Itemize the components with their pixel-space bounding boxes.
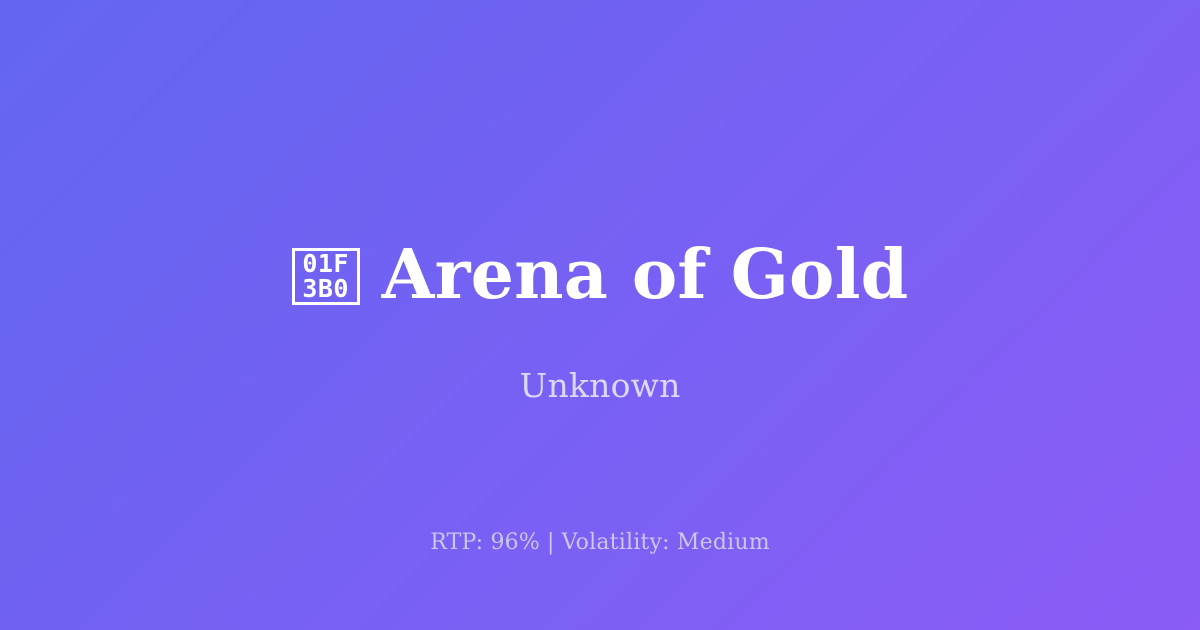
- rtp-value: RTP: 96%: [430, 530, 540, 555]
- game-meta-line: RTP: 96%|Volatility: Medium: [0, 529, 1200, 557]
- hero-block: 01F 3B0 Arena of Gold Unknown: [0, 228, 1200, 406]
- provider-subtitle: Unknown: [519, 366, 680, 406]
- title-row: 01F 3B0 Arena of Gold: [292, 228, 909, 322]
- volatility-value: Volatility: Medium: [562, 530, 770, 555]
- slot-machine-icon: 01F 3B0: [292, 248, 360, 305]
- hexbox-row-top: 01F: [302, 251, 349, 276]
- meta-separator: |: [540, 530, 562, 555]
- game-share-card: 01F 3B0 Arena of Gold Unknown RTP: 96%|V…: [0, 0, 1200, 630]
- page-title: Arena of Gold: [382, 231, 909, 319]
- hexbox-row-bottom: 3B0: [302, 276, 349, 301]
